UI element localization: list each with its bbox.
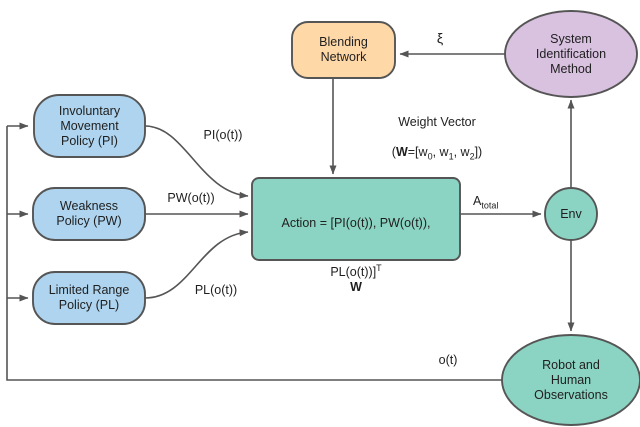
- weight-vector-close: ]): [475, 145, 483, 159]
- node-action-block[interactable]: [252, 178, 460, 260]
- node-blending-network[interactable]: [292, 22, 395, 78]
- node-policy-involuntary-movement[interactable]: [34, 95, 145, 157]
- edge-label-a-total: Atotal: [473, 194, 533, 214]
- weight-vector-body-1: =[w: [408, 145, 428, 159]
- node-policy-weakness[interactable]: [33, 188, 145, 240]
- node-policy-limited-range[interactable]: [33, 272, 145, 324]
- weight-vector-body-2: , w: [433, 145, 449, 159]
- edge-label-xi: ξ: [425, 31, 455, 46]
- diagram-canvas: Involuntary Movement Policy (PI) Weaknes…: [0, 0, 640, 427]
- weight-vector-symbol: W: [396, 145, 408, 159]
- weight-vector-line1: Weight Vector: [362, 115, 512, 130]
- edge-label-pw-output: PW(o(t)): [155, 191, 227, 206]
- edge-label-weight-vector: Weight Vector (W=[w0, w1, w2]): [362, 100, 512, 180]
- node-observations[interactable]: [502, 335, 640, 425]
- a-total-subscript: total: [481, 201, 498, 211]
- node-system-identification[interactable]: [505, 11, 637, 97]
- node-env[interactable]: [545, 188, 597, 240]
- edge-label-pi-output: PI(o(t)): [187, 128, 259, 143]
- weight-vector-line2: (W=[w0, w1, w2]): [362, 145, 512, 165]
- weight-vector-body-3: , w: [454, 145, 470, 159]
- edge-label-observation: o(t): [424, 353, 472, 368]
- edge-label-pl-output: PL(o(t)): [180, 283, 252, 298]
- diagram-nodes: [0, 0, 640, 427]
